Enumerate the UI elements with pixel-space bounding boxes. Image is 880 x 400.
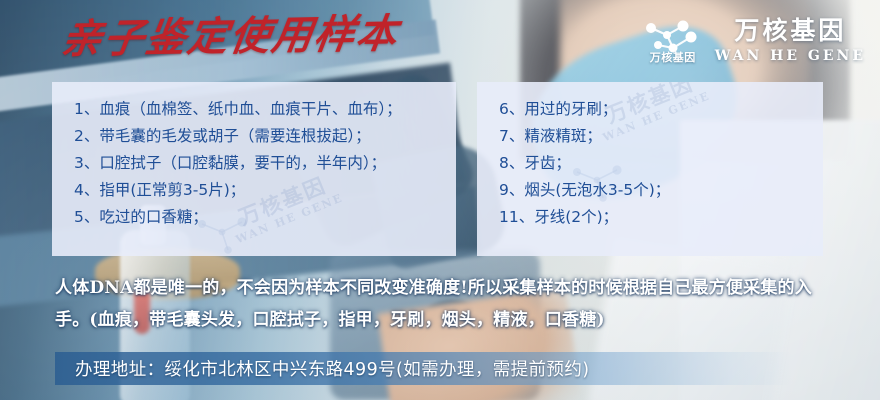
brand-wordmark: 万核基因 WAN HE GENE: [715, 18, 866, 63]
brand-name-cn: 万核基因: [734, 18, 846, 43]
poster-content: 亲子鉴定使用样本: [0, 0, 880, 400]
poster-canvas: 亲子鉴定使用样本: [0, 0, 880, 400]
address-text: 办理地址：绥化市北林区中兴东路499号(如需办理，需提前预约): [55, 356, 589, 381]
list-item: 4、指甲(正常剪3-5片)；: [74, 177, 456, 204]
list-item: 2、带毛囊的毛发或胡子（需要连根拔起）；: [74, 123, 456, 150]
list-item: 6、用过的牙刷；: [499, 96, 823, 123]
address-banner: 办理地址：绥化市北林区中兴东路499号(如需办理，需提前预约): [55, 352, 791, 385]
sample-list-right: 6、用过的牙刷； 7、精液精斑； 8、牙齿； 9、烟头(无泡水3-5个)； 11…: [477, 82, 823, 231]
sample-list-panel-left: 万核基因 WAN HE GENE 1、血痕（血棉签、纸巾血、血痕干片、血布）； …: [52, 82, 456, 256]
brand-mark-caption: 万核基因: [640, 49, 706, 65]
list-item: 9、烟头(无泡水3-5个)；: [499, 177, 823, 204]
brand-logo[interactable]: 万核基因 万核基因 WAN HE GENE: [642, 16, 866, 64]
molecule-node-icon: 万核基因: [642, 16, 704, 64]
list-item: 1、血痕（血棉签、纸巾血、血痕干片、血布）；: [74, 96, 456, 123]
sample-list-left: 1、血痕（血棉签、纸巾血、血痕干片、血布）； 2、带毛囊的毛发或胡子（需要连根拔…: [52, 82, 456, 231]
sample-list-panel-right: 万核基因 WAN HE GENE 6、用过的牙刷； 7、精液精斑； 8、牙齿； …: [477, 82, 823, 256]
list-item: 7、精液精斑；: [499, 123, 823, 150]
brand-name-en: WAN HE GENE: [715, 49, 866, 63]
list-item: 8、牙齿；: [499, 150, 823, 177]
list-item: 11、牙线(2个)；: [499, 204, 823, 231]
page-title: 亲子鉴定使用样本: [59, 14, 402, 60]
description-paragraph: 人体DNA都是唯一的，不会因为样本不同改变准确度!所以采集样本的时候根据自己最方…: [55, 272, 845, 336]
list-item: 3、口腔拭子（口腔黏膜，要干的，半年内）；: [74, 150, 456, 177]
list-item: 5、吃过的口香糖；: [74, 204, 456, 231]
